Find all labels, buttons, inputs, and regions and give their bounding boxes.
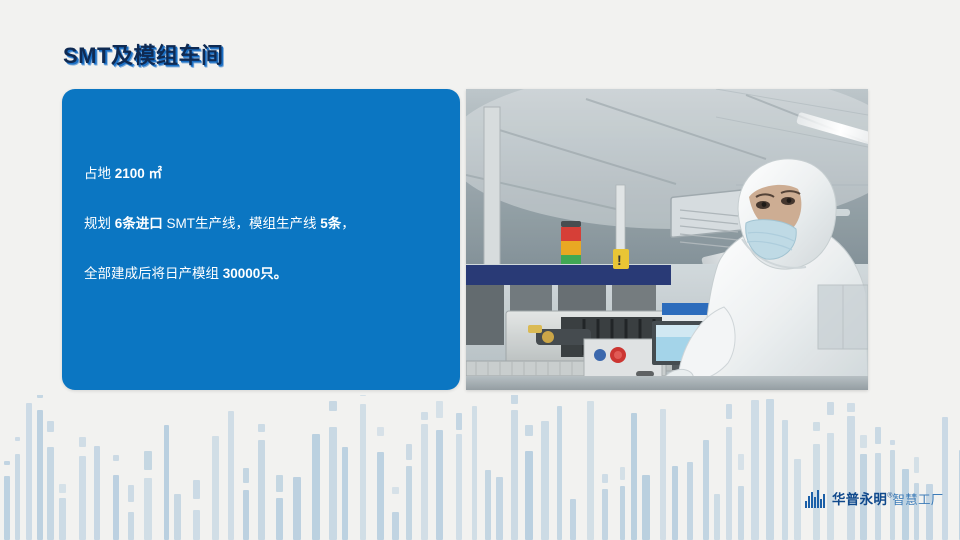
info-text: 占地 — [84, 166, 115, 181]
decorative-bar-segment — [47, 421, 54, 432]
logo-mark-bar — [823, 494, 825, 508]
info-text: 全部建成后将日产模组 — [84, 266, 223, 281]
decorative-bar — [26, 403, 32, 540]
decorative-bar — [47, 447, 54, 540]
decorative-bar — [4, 476, 10, 540]
info-line-area: 占地 2100 ㎡ — [84, 165, 446, 183]
decorative-bar — [660, 409, 666, 540]
decorative-bar-segment — [243, 468, 249, 483]
decorative-bar-segment — [602, 474, 608, 483]
decorative-bar — [243, 490, 249, 540]
decorative-bar — [751, 400, 759, 540]
decorative-bar — [228, 411, 234, 540]
decorative-bar — [703, 440, 709, 540]
decorative-bar — [782, 420, 788, 540]
logo-secondary-text: 智慧工厂 — [892, 493, 943, 507]
info-line-lines-plan: 规划 6条进口 SMT生产线，模组生产线 5条， — [84, 215, 446, 233]
page-title: SMT及模组车间 — [63, 38, 223, 70]
decorative-bar-segment — [875, 427, 881, 444]
decorative-bar-segment — [436, 401, 443, 418]
brand-logo: 华普永明®智慧工厂 — [805, 488, 944, 509]
decorative-bar — [620, 486, 625, 540]
decorative-bar-segment — [738, 454, 744, 470]
decorative-bar — [827, 433, 834, 540]
decorative-bar — [258, 440, 265, 540]
decorative-bar-segment — [128, 485, 134, 502]
logo-mark-bar — [820, 499, 822, 508]
decorative-bar — [144, 478, 152, 540]
logo-mark-bar — [805, 501, 807, 508]
decorative-bar — [511, 410, 518, 540]
decorative-bar — [570, 499, 576, 540]
decorative-bar — [37, 410, 43, 540]
decorative-bar-segment — [860, 435, 867, 448]
decorative-bar-segment — [113, 455, 119, 461]
decorative-bar — [631, 413, 637, 540]
info-text: ， — [341, 216, 355, 231]
logo-text-group: 华普永明®智慧工厂 — [832, 488, 944, 509]
info-emphasis: 2100 ㎡ — [115, 166, 162, 181]
decorative-bar-segment — [193, 480, 200, 499]
decorative-bar-segment — [258, 424, 265, 432]
decorative-bar-segment — [890, 440, 895, 445]
logo-mark-bar — [808, 496, 810, 508]
decorative-bar — [276, 498, 283, 540]
decorative-bar-segment — [511, 395, 518, 404]
decorative-bar — [557, 406, 562, 540]
decorative-bar — [496, 477, 503, 540]
workshop-photo: HELLER — [466, 89, 868, 390]
decorative-bar-segment — [620, 467, 625, 480]
logo-mark-bar — [817, 490, 819, 508]
info-panel: 占地 2100 ㎡规划 6条进口 SMT生产线，模组生产线 5条，全部建成后将日… — [62, 89, 460, 390]
decorative-bar — [421, 424, 428, 540]
decorative-bar — [293, 477, 301, 540]
decorative-bar — [485, 470, 491, 540]
decorative-bar-pattern — [0, 395, 960, 540]
info-emphasis: 5条 — [320, 216, 341, 231]
decorative-bar — [714, 494, 720, 540]
decorative-bar-segment — [914, 457, 919, 473]
decorative-bar-segment — [827, 402, 834, 415]
logo-mark-bar — [814, 497, 816, 508]
decorative-bar — [164, 425, 169, 540]
decorative-bar — [79, 456, 86, 540]
info-panel-body: 占地 2100 ㎡规划 6条进口 SMT生产线，模组生产线 5条，全部建成后将日… — [84, 165, 446, 284]
workshop-photo-illustration: HELLER — [466, 89, 868, 390]
decorative-bar — [738, 486, 744, 540]
decorative-bar — [436, 430, 443, 540]
info-line-daily-output: 全部建成后将日产模组 30000只。 — [84, 265, 446, 283]
decorative-bar-segment — [525, 425, 533, 436]
decorative-bar — [193, 510, 200, 540]
decorative-bar — [113, 475, 119, 540]
decorative-bar — [687, 462, 693, 540]
info-emphasis: 30000只。 — [223, 266, 288, 281]
decorative-bar — [541, 421, 549, 540]
slide-canvas: SMT及模组车间 占地 2100 ㎡规划 6条进口 SMT生产线，模组生产线 5… — [0, 0, 960, 540]
decorative-bar — [15, 454, 20, 540]
decorative-bar-segment — [15, 437, 20, 441]
decorative-bar — [602, 489, 608, 540]
decorative-bar — [212, 436, 219, 540]
decorative-bar — [128, 512, 134, 540]
building-bars-logo-icon — [805, 490, 827, 508]
logo-primary-text: 华普永明 — [832, 492, 887, 507]
decorative-bar-segment — [406, 444, 412, 460]
decorative-bar-segment — [79, 437, 86, 447]
decorative-bar — [472, 406, 477, 540]
decorative-bar — [587, 401, 594, 540]
decorative-bar — [174, 494, 181, 540]
decorative-bar-segment — [813, 422, 820, 431]
decorative-bar — [642, 475, 650, 540]
decorative-bar — [360, 404, 366, 540]
decorative-bar — [525, 451, 533, 540]
info-emphasis: 6条进口 — [115, 216, 163, 231]
decorative-bar — [377, 452, 384, 540]
info-text: 规划 — [84, 216, 115, 231]
decorative-bar — [672, 466, 678, 540]
decorative-bar — [766, 399, 774, 540]
decorative-bar-segment — [421, 412, 428, 420]
decorative-bar — [942, 417, 948, 540]
decorative-bar — [392, 512, 399, 540]
decorative-bar-segment — [360, 395, 366, 396]
decorative-bar-segment — [4, 461, 10, 465]
decorative-bar — [794, 459, 801, 540]
decorative-bar-segment — [329, 401, 337, 411]
decorative-bar — [59, 498, 66, 540]
decorative-bar-segment — [59, 484, 66, 493]
decorative-bar — [847, 416, 855, 540]
decorative-bar — [726, 427, 732, 540]
decorative-bar — [312, 434, 320, 540]
decorative-bar-segment — [144, 451, 152, 470]
decorative-bar — [456, 434, 462, 540]
logo-mark-bar — [811, 492, 813, 508]
info-text: SMT生产线，模组生产线 — [163, 216, 321, 231]
decorative-bar — [406, 466, 412, 540]
decorative-bar-segment — [377, 427, 384, 436]
decorative-bar-segment — [276, 475, 283, 492]
decorative-bar — [329, 427, 337, 540]
decorative-bar — [94, 446, 100, 540]
decorative-bar-segment — [37, 395, 43, 398]
decorative-bar-segment — [847, 403, 855, 412]
decorative-bar-segment — [392, 487, 399, 494]
decorative-bar-segment — [456, 413, 462, 430]
decorative-bar-segment — [726, 404, 732, 419]
decorative-bar — [342, 447, 348, 540]
